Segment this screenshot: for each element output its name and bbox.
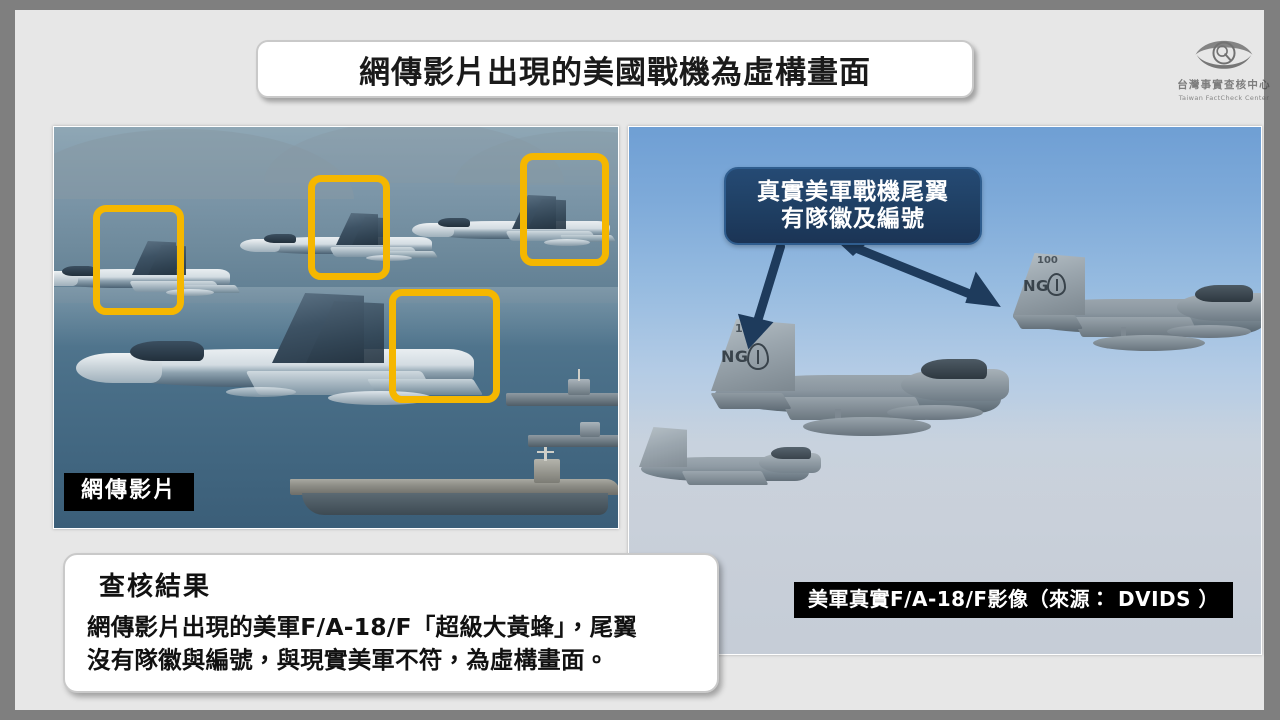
verdict-body-line-1: 網傳影片出現的美軍F/A-18/F「超級大黃蜂」，尾翼: [87, 611, 697, 644]
real-jet-partial: [628, 427, 819, 513]
slide-canvas: 網傳影片出現的美國戰機為虛構畫面 台灣事實查核中心 Taiwan FactChe…: [15, 10, 1264, 710]
logo-name-zh: 台灣事實查核中心: [1177, 77, 1271, 92]
highlight-box-tail-3: [520, 153, 609, 266]
squadron-insignia-icon: [747, 343, 769, 370]
callout-box: 真實美軍戰機尾翼 有隊徽及編號: [724, 167, 982, 245]
aircraft-carrier: [290, 457, 619, 529]
escort-ship: [528, 419, 619, 457]
viral-video-image: 網傳影片: [54, 127, 618, 528]
highlight-box-tail-1: [93, 205, 184, 315]
verdict-title: 查核結果: [99, 566, 697, 603]
real-jet-upper: 100 NG: [981, 255, 1262, 383]
tail-code-ng: NG: [721, 347, 749, 366]
logo-name-en: Taiwan FactCheck Center: [1179, 94, 1270, 102]
tail-code-ng: NG: [1023, 277, 1049, 295]
squadron-insignia-icon: [1047, 273, 1066, 296]
authentic-footage-caption: 美軍真實F/A-18/F影像（來源： DVIDS ）: [794, 582, 1233, 618]
viral-video-caption: 網傳影片: [64, 473, 194, 511]
verdict-body: 網傳影片出現的美軍F/A-18/F「超級大黃蜂」，尾翼 沒有隊徽與編號，與現實美…: [87, 611, 697, 678]
slide-frame: 網傳影片出現的美國戰機為虛構畫面 台灣事實查核中心 Taiwan FactChe…: [0, 0, 1280, 720]
highlight-box-tail-2: [308, 175, 390, 280]
tail-number: 100: [1037, 255, 1058, 266]
viral-video-panel: 網傳影片: [53, 126, 619, 529]
page-title: 網傳影片出現的美國戰機為虛構畫面: [359, 47, 871, 92]
verdict-box: 查核結果 網傳影片出現的美軍F/A-18/F「超級大黃蜂」，尾翼 沒有隊徽與編號…: [63, 553, 719, 693]
escort-ship: [506, 375, 619, 415]
callout-line-2: 有隊徽及編號: [781, 206, 925, 233]
eye-magnifier-icon: [1193, 30, 1255, 76]
organization-logo: 台灣事實查核中心 Taiwan FactCheck Center: [1175, 30, 1273, 112]
verdict-body-line-2: 沒有隊徽與編號，與現實美軍不符，為虛構畫面。: [87, 644, 697, 677]
tail-number: 101: [735, 322, 758, 335]
highlight-box-tail-4: [389, 289, 500, 403]
callout-line-1: 真實美軍戰機尾翼: [757, 179, 949, 206]
slide-title-box: 網傳影片出現的美國戰機為虛構畫面: [256, 40, 974, 98]
